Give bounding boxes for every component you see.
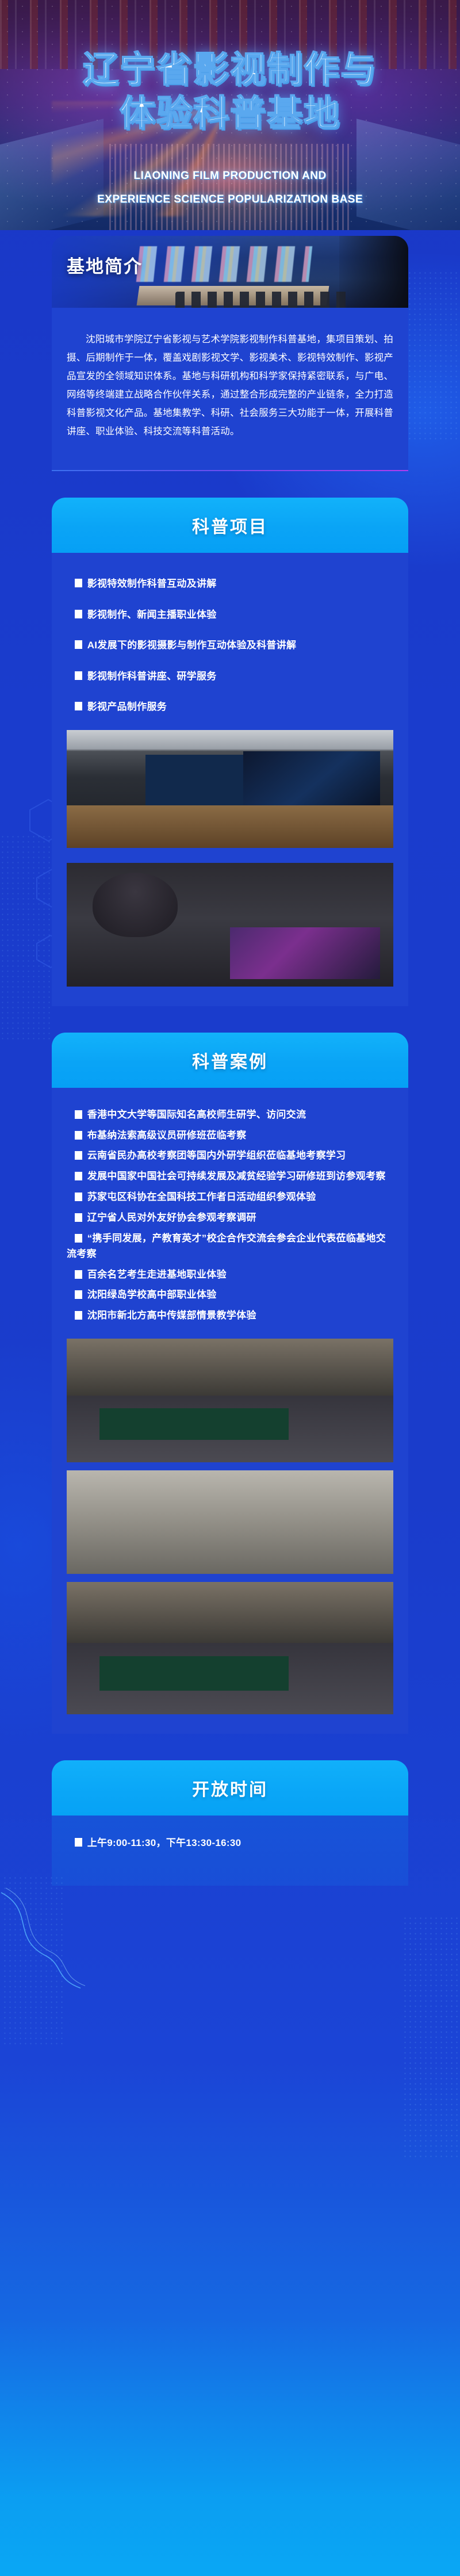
list-item: 香港中文大学等国际知名高校师生研学、访问交流	[67, 1107, 393, 1123]
hours-card-body: 上午9:00-11:30，下午13:30-16:30	[52, 1816, 408, 1886]
projects-card-body: 影视特效制作科普互动及讲解 影视制作、新闻主播职业体验 AI发展下的影视摄影与制…	[52, 553, 408, 1006]
projects-card: 科普项目 影视特效制作科普互动及讲解 影视制作、新闻主播职业体验 AI发展下的影…	[52, 498, 408, 1006]
hours-card-header: 开放时间	[52, 1760, 408, 1816]
hours-list: 上午9:00-11:30，下午13:30-16:30	[67, 1835, 393, 1851]
hero-title: 辽宁省影视制作与 体验科普基地	[0, 48, 460, 135]
list-item: 上午9:00-11:30，下午13:30-16:30	[67, 1835, 393, 1851]
intro-card: 基地简介 沈阳城市学院辽宁省影视与艺术学院影视制作科普基地，集项目策划、拍摄、后…	[52, 236, 408, 471]
list-item: 沈阳市新北方高中传媒部情景教学体验	[67, 1308, 393, 1324]
cases-photo-workstation	[67, 1470, 393, 1574]
infographic-page: 辽宁省影视制作与 体验科普基地 LIAONING FILM PRODUCTION…	[0, 0, 460, 2576]
dot-pattern-decor-mid	[0, 834, 52, 1041]
hours-title: 开放时间	[192, 1775, 268, 1801]
projects-photo-control-room	[67, 730, 393, 848]
list-item: 百余名艺考生走进基地职业体验	[67, 1267, 393, 1283]
intro-title: 基地简介	[67, 252, 143, 278]
cases-list: 香港中文大学等国际知名高校师生研学、访问交流 布基纳法索高级议员研修班莅临考察 …	[67, 1107, 393, 1324]
projects-photo-editing-suite	[67, 863, 393, 987]
cases-card: 科普案例 香港中文大学等国际知名高校师生研学、访问交流 布基纳法索高级议员研修班…	[52, 1033, 408, 1734]
hero-banner: 辽宁省影视制作与 体验科普基地 LIAONING FILM PRODUCTION…	[0, 0, 460, 230]
list-item: AI发展下的影视摄影与制作互动体验及科普讲解	[67, 637, 393, 653]
list-item: 沈阳绿岛学校高中部职业体验	[67, 1287, 393, 1303]
list-item: 发展中国家中国社会可持续发展及减贫经验学习研修班到访参观考察	[67, 1169, 393, 1184]
chairs-decor	[175, 292, 348, 308]
hours-card: 开放时间 上午9:00-11:30，下午13:30-16:30	[52, 1760, 408, 1886]
list-item: 布基纳法索高级议员研修班莅临考察	[67, 1128, 393, 1144]
hero-title-line-2: 体验科普基地	[0, 92, 460, 136]
cases-photo-lab-visit	[67, 1339, 393, 1462]
page-bottom-spacer	[0, 1886, 460, 1909]
list-item: 影视制作、新闻主播职业体验	[67, 607, 393, 623]
hero-subtitle: LIAONING FILM PRODUCTION AND EXPERIENCE …	[0, 165, 460, 212]
list-item: 辽宁省人民对外友好协会参观考察调研	[67, 1210, 393, 1226]
list-item: 苏家屯区科协在全国科技工作者日活动组织参观体验	[67, 1190, 393, 1205]
cases-photo-recording-studio	[67, 1582, 393, 1714]
list-item: 云南省民办高校考察团等国内外研学组织莅临基地考察学习	[67, 1148, 393, 1164]
projects-list: 影视特效制作科普互动及讲解 影视制作、新闻主播职业体验 AI发展下的影视摄影与制…	[67, 576, 393, 715]
cases-title: 科普案例	[192, 1048, 268, 1073]
intro-card-header: 基地简介	[52, 236, 408, 308]
list-item: “携手同发展，产教育英才”校企合作交流会参会企业代表莅临基地交流考察	[67, 1231, 393, 1262]
header-dark-vignette	[339, 236, 408, 308]
list-item: 影视产品制作服务	[67, 699, 393, 715]
projects-title: 科普项目	[192, 513, 268, 538]
dot-pattern-decor-lower	[402, 1916, 460, 2157]
intro-paragraph: 沈阳城市学院辽宁省影视与艺术学院影视制作科普基地，集项目策划、拍摄、后期制作于一…	[67, 330, 393, 441]
list-item: 影视制作科普讲座、研学服务	[67, 668, 393, 685]
list-item: 影视特效制作科普互动及讲解	[67, 576, 393, 592]
projects-card-header: 科普项目	[52, 498, 408, 553]
intro-card-body: 沈阳城市学院辽宁省影视与艺术学院影视制作科普基地，集项目策划、拍摄、后期制作于一…	[52, 308, 408, 470]
hero-subtitle-line-1: LIAONING FILM PRODUCTION AND	[0, 165, 460, 188]
cases-card-header: 科普案例	[52, 1033, 408, 1088]
hero-subtitle-line-2: EXPERIENCE SCIENCE POPULARIZATION BASE	[0, 188, 460, 212]
cases-card-body: 香港中文大学等国际知名高校师生研学、访问交流 布基纳法索高级议员研修班莅临考察 …	[52, 1088, 408, 1734]
monitor-wall-decor	[136, 246, 313, 282]
hero-title-line-1: 辽宁省影视制作与	[0, 48, 460, 92]
